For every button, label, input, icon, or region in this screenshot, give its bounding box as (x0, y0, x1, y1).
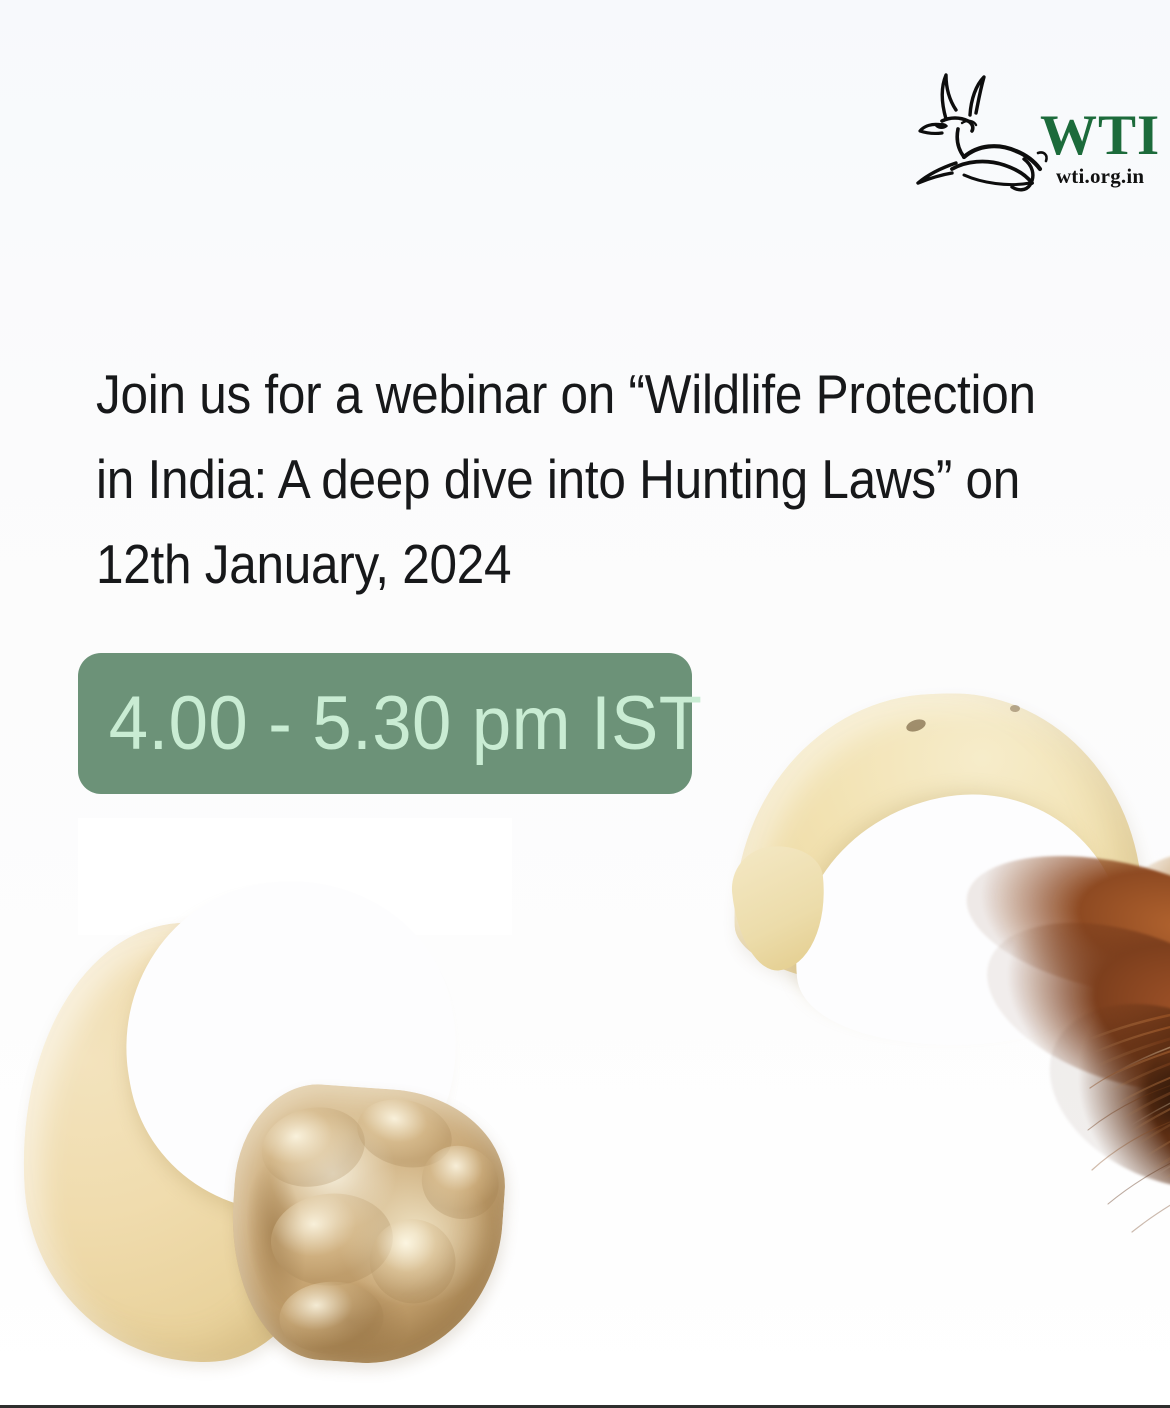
logo-wti-text: WTI (1040, 107, 1160, 164)
webinar-poster: WTI wti.org.in Join us for a webinar on … (0, 0, 1170, 1408)
page-title: Join us for a webinar on “Wildlife Prote… (96, 352, 996, 607)
headline-line-1: Join us for a webinar on “Wildlife Prote… (96, 352, 996, 437)
fur-strands-icon (840, 826, 1170, 1256)
time-badge-label: 4.00 - 5.30 pm IST (78, 680, 702, 767)
logo-wordmark: WTI wti.org.in (1040, 107, 1160, 187)
leaping-deer-icon (912, 63, 1052, 193)
claw-surface-speck (1010, 705, 1020, 712)
animal-claw-specimen-right (700, 678, 1170, 1318)
logo-url-text: wti.org.in (1056, 166, 1144, 187)
headline-line-3: 12th January, 2024 (96, 522, 996, 607)
claw-bony-base (223, 1079, 512, 1372)
time-badge: 4.00 - 5.30 pm IST (78, 653, 692, 794)
headline-line-2: in India: A deep dive into Hunting Laws”… (96, 437, 996, 522)
animal-claw-specimen-left (14, 915, 554, 1408)
claw-fur-base (948, 836, 1170, 1236)
wti-logo[interactable]: WTI wti.org.in (912, 55, 1162, 200)
